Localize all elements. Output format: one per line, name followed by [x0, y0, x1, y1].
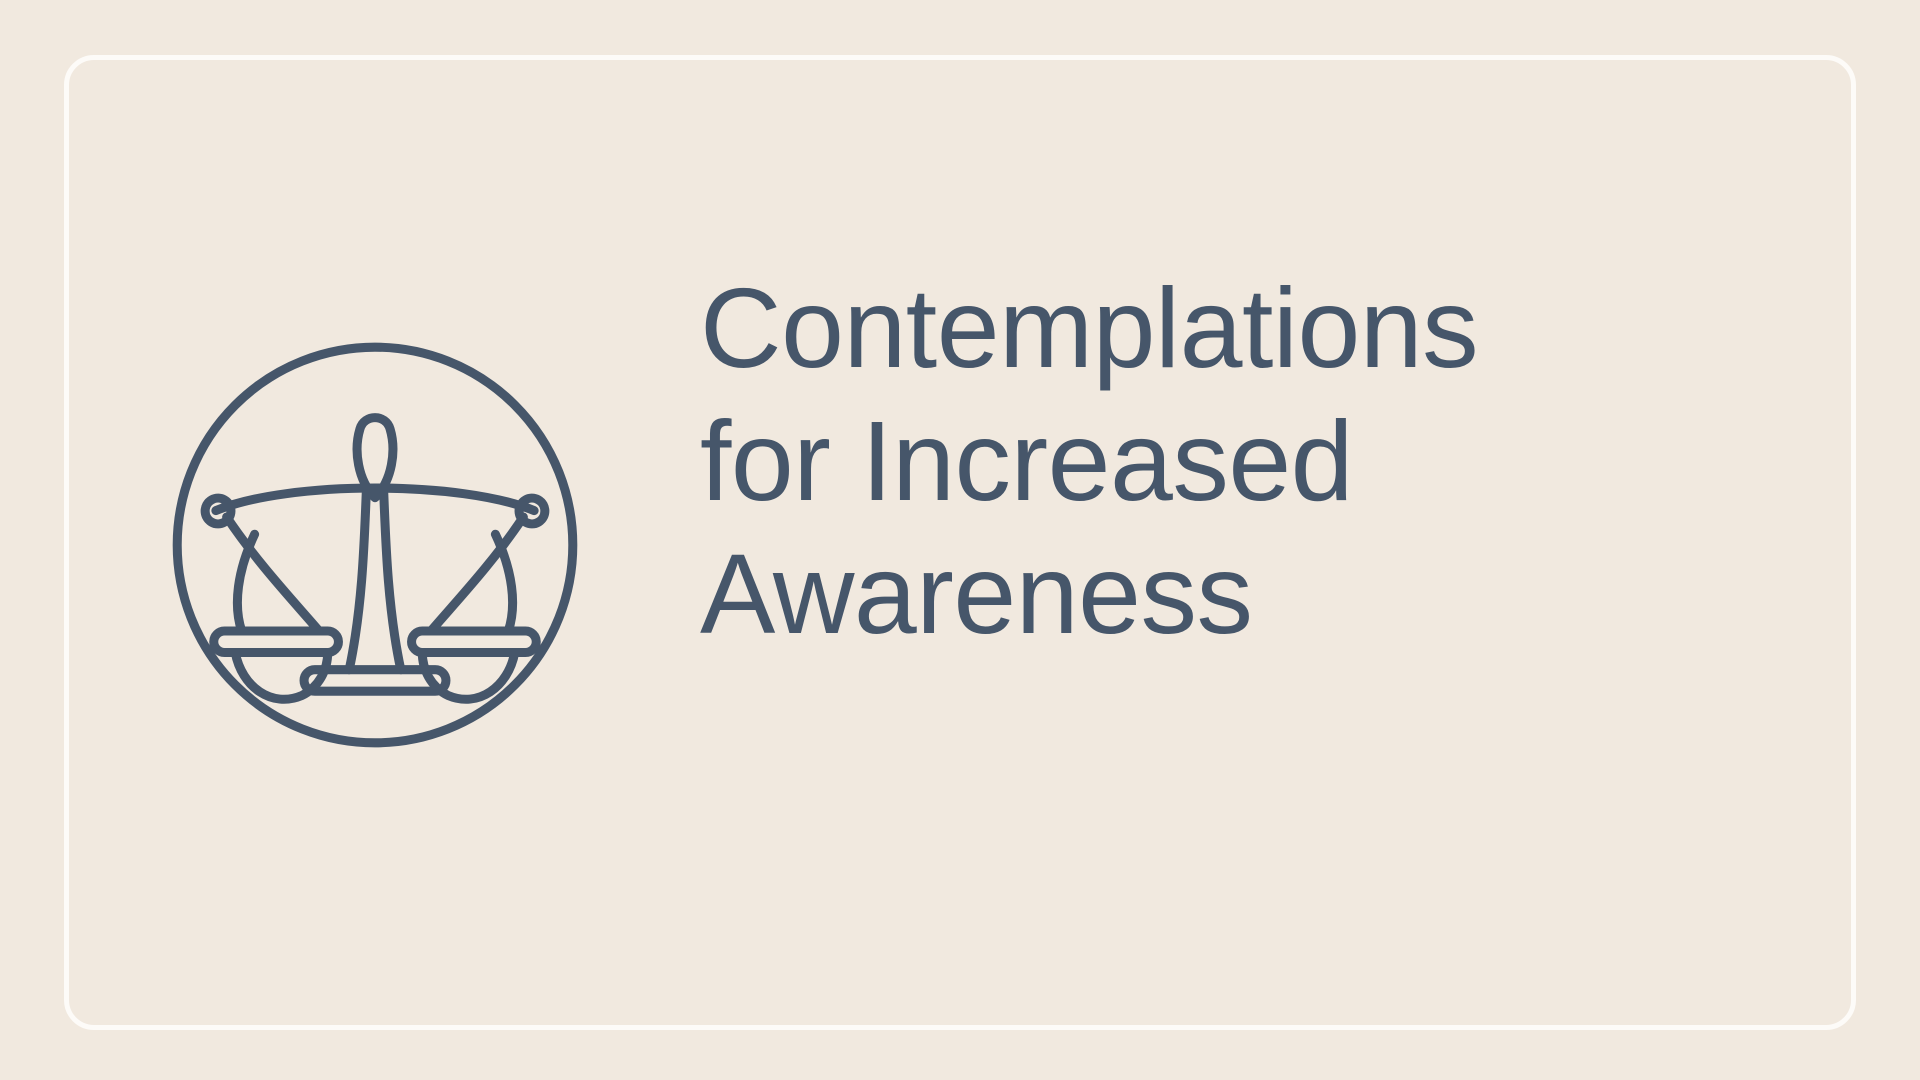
card-content: Contemplations for Increased Awareness: [0, 0, 1920, 1080]
title-card: Contemplations for Increased Awareness: [0, 0, 1920, 1080]
title-line-3: Awareness: [700, 528, 1800, 661]
page-title: Contemplations for Increased Awareness: [700, 262, 1800, 661]
scales-of-justice-icon: [160, 330, 590, 760]
title-line-2: for Increased: [700, 395, 1800, 528]
title-line-1: Contemplations: [700, 262, 1800, 395]
